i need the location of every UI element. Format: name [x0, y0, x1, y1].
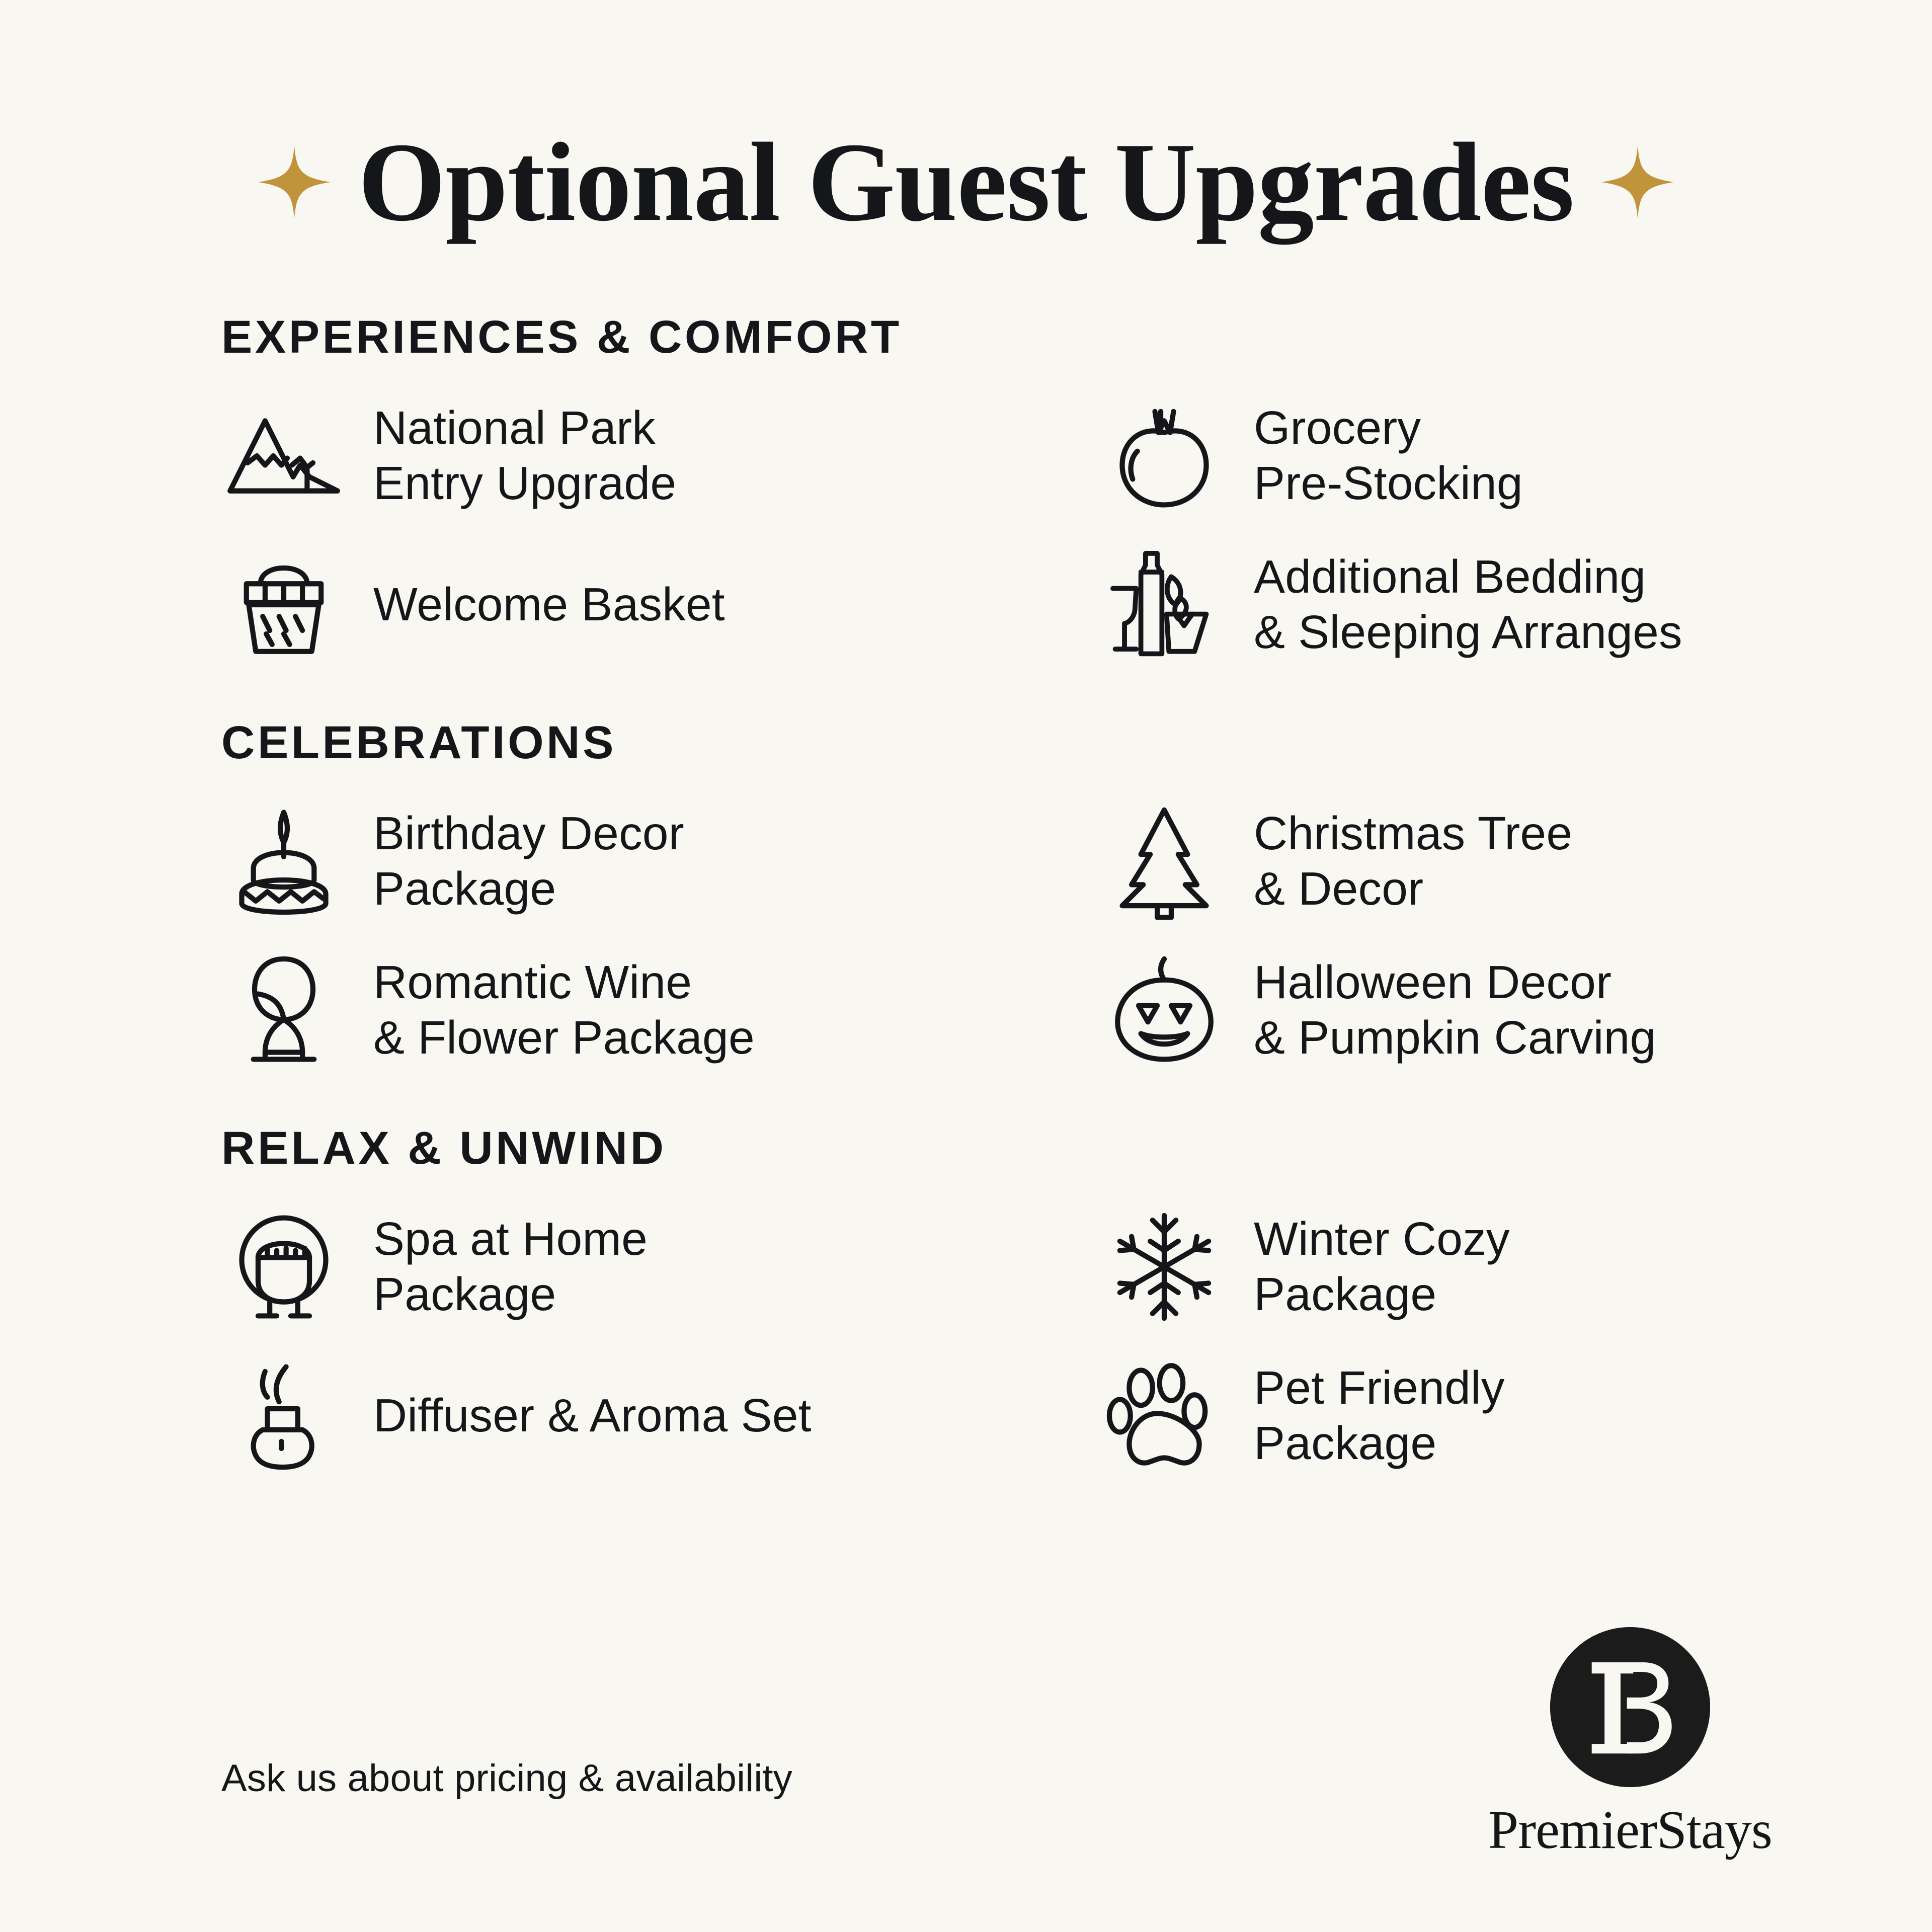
spa-person-icon	[221, 1204, 346, 1329]
list-item[interactable]: Halloween Decor & Pumpkin Carving	[1077, 948, 1932, 1073]
list-item-line1: Birthday Decor	[373, 806, 684, 861]
birthday-cake-icon	[221, 799, 346, 924]
list-item[interactable]: Additional Bedding & Sleeping Arranges	[1077, 542, 1932, 667]
list-item-line1: National Park	[373, 400, 676, 456]
brand-lockup: PremierStays	[1449, 1627, 1811, 1862]
apple-icon	[1102, 393, 1227, 518]
list-item-label: Diffuser & Aroma Set	[373, 1388, 812, 1443]
list-item-line2: & Flower Package	[373, 1010, 755, 1066]
list-item[interactable]: Spa at Home Package	[221, 1204, 1077, 1329]
section-celebrations: CELEBRATIONS Birthday	[221, 719, 1932, 1073]
section-item-grid: Spa at Home Package	[221, 1204, 1932, 1478]
ps-monogram-icon	[1550, 1627, 1710, 1787]
list-item-line1: Additional Bedding	[1254, 549, 1682, 605]
list-item-line1: Spa at Home	[373, 1212, 648, 1267]
section-heading: EXPERIENCES & COMFORT	[221, 314, 1932, 360]
section-item-grid: National Park Entry Upgrade	[221, 393, 1932, 667]
list-item-line2: & Pumpkin Carving	[1254, 1010, 1656, 1066]
page-title: Optional Guest Upgrades	[358, 126, 1574, 238]
list-item[interactable]: Pet Friendly Package	[1077, 1353, 1932, 1478]
section-relax-unwind: RELAX & UNWIND Spa at	[221, 1125, 1932, 1478]
list-item-label: Christmas Tree & Decor	[1254, 806, 1572, 916]
list-item-label: Spa at Home Package	[373, 1212, 648, 1322]
list-item[interactable]: Diffuser & Aroma Set	[221, 1353, 1077, 1478]
basket-icon	[221, 542, 346, 667]
list-item-label: Birthday Decor Package	[373, 806, 684, 916]
list-item-line2: Pre-Stocking	[1254, 456, 1523, 511]
list-item[interactable]: Grocery Pre-Stocking	[1077, 393, 1932, 518]
four-point-star-icon	[257, 144, 332, 220]
section-experiences-comfort: EXPERIENCES & COMFORT National Park	[221, 314, 1932, 667]
guest-upgrades-poster: Optional Guest Upgrades EXPERIENCES & CO…	[0, 0, 1932, 1932]
diffuser-icon	[221, 1353, 346, 1478]
list-item-line1: Halloween Decor	[1254, 955, 1656, 1010]
list-item-line1: Grocery	[1254, 400, 1523, 456]
list-item-line1: Christmas Tree	[1254, 806, 1572, 861]
list-item[interactable]: Winter Cozy Package	[1077, 1204, 1932, 1329]
pumpkin-icon	[1102, 948, 1227, 1073]
list-item-line2: & Decor	[1254, 861, 1572, 917]
list-item[interactable]: Birthday Decor Package	[221, 799, 1077, 924]
list-item-line1: Diffuser & Aroma Set	[373, 1388, 812, 1443]
list-item-line2: & Sleeping Arranges	[1254, 605, 1682, 660]
mountain-icon	[221, 393, 346, 518]
list-item-line2: Package	[1254, 1416, 1505, 1471]
list-item-line2: Package	[373, 1267, 648, 1322]
snowflake-icon	[1102, 1204, 1227, 1329]
list-item-label: Romantic Wine & Flower Package	[373, 955, 755, 1065]
section-heading: CELEBRATIONS	[221, 719, 1932, 766]
wine-basket-icon	[1102, 542, 1227, 667]
list-item-line1: Welcome Basket	[373, 577, 725, 632]
four-point-star-icon	[1600, 144, 1675, 220]
section-item-grid: Birthday Decor Package Christmas Tree & …	[221, 799, 1932, 1073]
list-item-label: Winter Cozy Package	[1254, 1212, 1510, 1322]
list-item-label: Additional Bedding & Sleeping Arranges	[1254, 549, 1682, 660]
list-item-line1: Winter Cozy	[1254, 1212, 1510, 1267]
list-item-label: Welcome Basket	[373, 577, 725, 632]
list-item-label: Pet Friendly Package	[1254, 1360, 1505, 1471]
brand-badge	[1550, 1627, 1710, 1787]
pricing-availability-note: Ask us about pricing & availability	[221, 1756, 792, 1800]
list-item-line2: Package	[373, 861, 684, 917]
page-title-row: Optional Guest Upgrades	[0, 0, 1932, 238]
list-item-label: Grocery Pre-Stocking	[1254, 400, 1523, 511]
paw-print-icon	[1102, 1353, 1227, 1478]
list-item[interactable]: Romantic Wine & Flower Package	[221, 948, 1077, 1073]
list-item-line1: Pet Friendly	[1254, 1360, 1505, 1416]
list-item-label: Halloween Decor & Pumpkin Carving	[1254, 955, 1656, 1065]
list-item[interactable]: National Park Entry Upgrade	[221, 393, 1077, 518]
list-item-label: National Park Entry Upgrade	[373, 400, 676, 511]
list-item[interactable]: Welcome Basket	[221, 542, 1077, 667]
pine-tree-icon	[1102, 799, 1227, 924]
wine-glass-icon	[221, 948, 346, 1073]
section-heading: RELAX & UNWIND	[221, 1125, 1932, 1171]
brand-name: PremierStays	[1488, 1799, 1772, 1862]
list-item-line2: Package	[1254, 1267, 1510, 1322]
sections-container: EXPERIENCES & COMFORT National Park	[0, 238, 1932, 1478]
list-item[interactable]: Christmas Tree & Decor	[1077, 799, 1932, 924]
list-item-line1: Romantic Wine	[373, 955, 755, 1010]
list-item-line2: Entry Upgrade	[373, 456, 676, 511]
